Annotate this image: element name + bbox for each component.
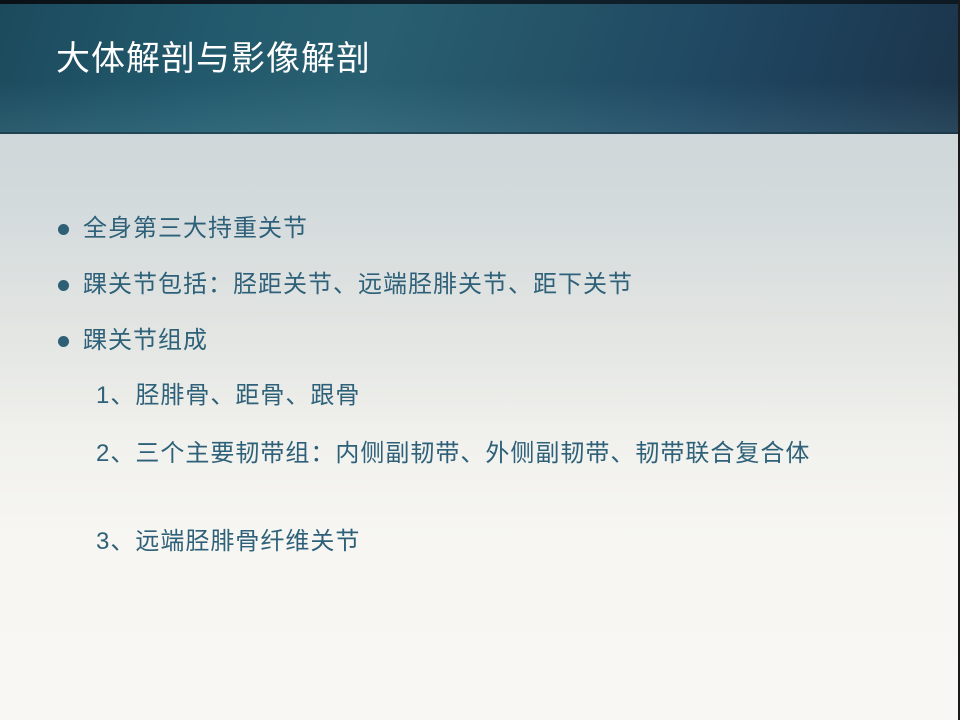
bullet-item-label: 全身第三大持重关节 [83, 212, 918, 246]
bullet-item: 踝关节组成 [58, 324, 918, 358]
slide-header-band: 大体解剖与影像解剖 [0, 0, 960, 134]
bullet-item-label: 踝关节包括：胫距关节、远端胫腓关节、距下关节 [83, 268, 918, 302]
sub-list-item: 2、三个主要韧带组：内侧副韧带、外侧副韧带、韧带联合复合体 [58, 436, 858, 472]
bullet-item-label: 踝关节组成 [83, 324, 918, 358]
page-title: 大体解剖与影像解剖 [56, 36, 876, 82]
header-sheen-overlay [0, 82, 960, 134]
header-top-rule [0, 0, 960, 4]
bullet-dot-icon [58, 280, 69, 291]
slide: 大体解剖与影像解剖 全身第三大持重关节 踝关节包括：胫距关节、远端胫腓关节、距下… [0, 0, 960, 720]
bullet-item: 全身第三大持重关节 [58, 212, 918, 246]
bullet-dot-icon [58, 336, 69, 347]
bullet-item: 踝关节包括：胫距关节、远端胫腓关节、距下关节 [58, 268, 918, 302]
slide-body: 全身第三大持重关节 踝关节包括：胫距关节、远端胫腓关节、距下关节 踝关节组成 1… [0, 134, 960, 720]
sub-list-item: 1、胫腓骨、距骨、跟骨 [58, 378, 858, 414]
sub-list-item: 3、远端胫腓骨纤维关节 [58, 524, 858, 560]
bullet-dot-icon [58, 224, 69, 235]
